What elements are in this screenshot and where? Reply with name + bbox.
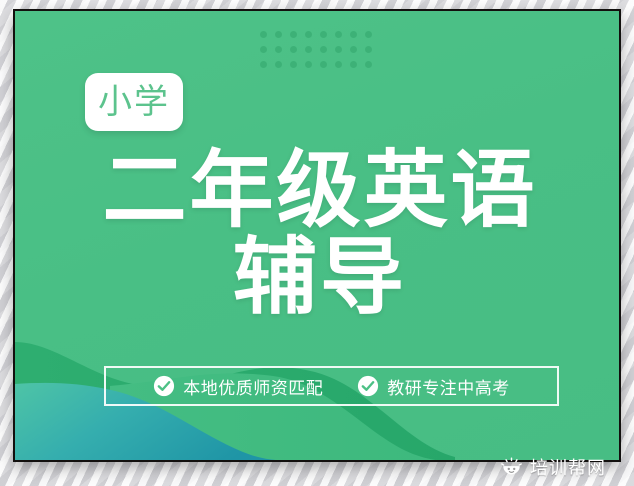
feature-label-2: 教研专注中高考 <box>387 374 510 399</box>
dot <box>320 61 327 68</box>
dot <box>350 61 357 68</box>
dot <box>305 31 312 38</box>
watermark: 培训帮网 <box>495 452 612 482</box>
headline-line-2: 辅导 <box>21 234 619 321</box>
dot <box>260 61 267 68</box>
dot <box>335 31 342 38</box>
dot <box>350 46 357 53</box>
feature-item-1: 本地优质师资匹配 <box>153 374 323 399</box>
dot <box>260 31 267 38</box>
dot <box>305 61 312 68</box>
dot-grid-decoration <box>260 31 380 76</box>
dot <box>365 61 372 68</box>
dot <box>335 46 342 53</box>
poster-headline: 二年级英语 辅导 <box>15 147 619 322</box>
grade-badge: 小学 <box>85 73 183 131</box>
feature-label-1: 本地优质师资匹配 <box>183 374 323 399</box>
feature-bar: 本地优质师资匹配 教研专注中高考 <box>104 366 559 406</box>
dot <box>350 31 357 38</box>
dot <box>290 61 297 68</box>
dot <box>260 46 267 53</box>
dot <box>320 31 327 38</box>
dot <box>365 31 372 38</box>
dot <box>305 46 312 53</box>
watermark-label: 培训帮网 <box>530 454 606 480</box>
course-poster-card: 小学 二年级英语 辅导 本地优质师资匹配 教研专注中高考 <box>13 9 621 462</box>
dot <box>335 61 342 68</box>
dot <box>290 31 297 38</box>
grade-badge-label: 小学 <box>98 85 170 119</box>
dot <box>275 61 282 68</box>
check-circle-icon <box>357 375 379 397</box>
dot <box>365 46 372 53</box>
feature-item-2: 教研专注中高考 <box>357 374 510 399</box>
headline-line-1: 二年级英语 <box>21 147 619 234</box>
dot <box>275 46 282 53</box>
dot <box>320 46 327 53</box>
dot <box>275 31 282 38</box>
dot <box>290 46 297 53</box>
check-circle-icon <box>153 375 175 397</box>
sun-face-icon <box>501 457 522 478</box>
